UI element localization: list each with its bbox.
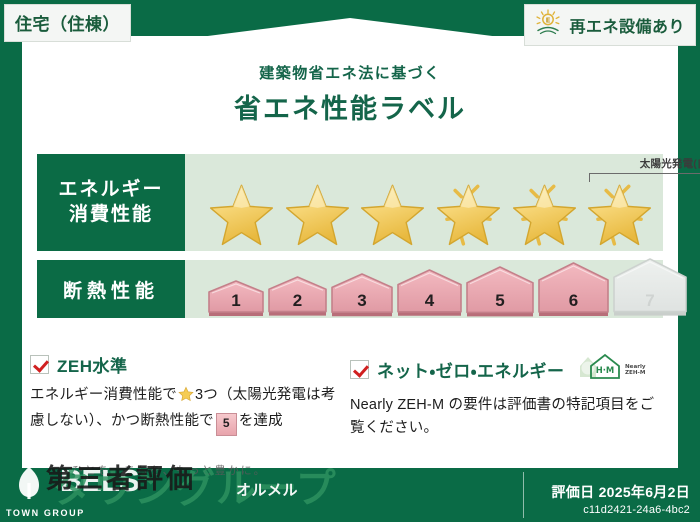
insulation-level-number: 2 bbox=[267, 291, 328, 311]
row-insulation-body: 1 2 bbox=[185, 260, 663, 318]
footer-divider bbox=[523, 472, 524, 518]
watermark-overlay-dark: 第三者評価 bbox=[46, 457, 196, 496]
note-zeh-text-3: を達成 bbox=[239, 413, 283, 429]
badge-building-type: 住宅（住棟） bbox=[4, 4, 131, 42]
insulation-level-number: 7 bbox=[612, 291, 688, 311]
insulation-level-6: 6 bbox=[537, 262, 610, 318]
badge-renewable-energy: E 再エネ設備あり bbox=[524, 4, 696, 46]
energy-label-card: 住宅（住棟） E 再エネ設備あり 建 bbox=[0, 0, 700, 522]
footer-evaluation-info: 評価日 2025年6月2日 c11d2421-24a6-4bc2 bbox=[551, 482, 690, 516]
note-zeh-title: ZEH水準 bbox=[57, 352, 128, 377]
row-insulation-label-text: 断熱性能 bbox=[63, 276, 159, 303]
insulation-level-badge: 5 bbox=[216, 413, 237, 435]
insulation-level-4: 4 bbox=[396, 269, 463, 318]
row-energy-label-line2: 消費性能 bbox=[69, 203, 153, 227]
energy-star-1 bbox=[203, 173, 277, 249]
note-zeh-text-1: エネルギー消費性能で bbox=[30, 387, 177, 403]
energy-star-2 bbox=[279, 173, 353, 249]
note-zeh-header: ZEH水準 bbox=[30, 352, 336, 377]
row-energy-label: エネルギー 消費性能 bbox=[37, 154, 185, 251]
insulation-level-3: 3 bbox=[330, 273, 394, 318]
note-zeh-body: エネルギー消費性能で3つ（太陽光発電は考慮しない）、かつ断熱性能で5を達成 bbox=[30, 384, 336, 436]
svg-text:ZEH-M: ZEH-M bbox=[625, 370, 646, 376]
page-title: 省エネ性能ラベル bbox=[0, 87, 700, 126]
checkbox-checked-icon bbox=[350, 360, 369, 379]
note-net-zero-energy: ネット・ゼロ・エネルギー H·M Nearly ZEH-M Nearly ZEH… bbox=[350, 352, 670, 441]
nearly-zeh-m-logo: H·M Nearly ZEH-M bbox=[577, 352, 653, 387]
evaluation-id: c11d2421-24a6-4bc2 bbox=[551, 504, 690, 516]
insulation-level-scale: 1 2 bbox=[207, 260, 688, 318]
insulation-level-2: 2 bbox=[267, 276, 328, 318]
row-energy-performance: エネルギー 消費性能 太陽光発電(自家消費)分 bbox=[37, 154, 663, 251]
note-zeh-standard: ZEH水準 エネルギー消費性能で3つ（太陽光発電は考慮しない）、かつ断熱性能で5… bbox=[30, 352, 350, 441]
note-nze-body: Nearly ZEH-M の要件は評価書の特記項目をご覧ください。 bbox=[350, 394, 656, 441]
badge-building-type-label: 住宅（住棟） bbox=[15, 15, 120, 34]
title-block: 建築物省エネ法に基づく 省エネ性能ラベル bbox=[0, 62, 700, 126]
watermark-ormel: オルメル bbox=[236, 479, 298, 500]
insulation-level-number: 4 bbox=[396, 291, 463, 311]
performance-section: エネルギー 消費性能 太陽光発電(自家消費)分 bbox=[37, 154, 663, 327]
energy-star-5 bbox=[506, 173, 580, 249]
sun-renewable-icon: E bbox=[533, 9, 563, 40]
row-insulation-performance: 断熱性能 1 bbox=[37, 260, 663, 318]
star-icon bbox=[178, 386, 194, 410]
svg-text:H·M: H·M bbox=[595, 365, 614, 375]
energy-star-6 bbox=[581, 173, 655, 249]
evaluation-date: 評価日 2025年6月2日 bbox=[551, 482, 690, 502]
notes-section: ZEH水準 エネルギー消費性能で3つ（太陽光発電は考慮しない）、かつ断熱性能で5… bbox=[30, 352, 670, 441]
energy-star-4 bbox=[430, 173, 504, 249]
checkbox-checked-icon bbox=[30, 355, 49, 374]
insulation-level-number: 3 bbox=[330, 291, 394, 311]
insulation-level-1: 1 bbox=[207, 280, 265, 318]
row-energy-body: 太陽光発電(自家消費)分 bbox=[185, 154, 663, 251]
row-energy-label-line1: エネルギー bbox=[58, 178, 163, 202]
energy-star-3 bbox=[354, 173, 428, 249]
insulation-level-7: 7 bbox=[612, 258, 688, 318]
insulation-level-number: 5 bbox=[465, 291, 535, 311]
badge-renewable-energy-label: 再エネ設備あり bbox=[569, 13, 685, 37]
insulation-level-number: 1 bbox=[207, 291, 265, 311]
energy-star-rating bbox=[203, 173, 655, 249]
row-insulation-label: 断熱性能 bbox=[37, 260, 185, 318]
svg-text:E: E bbox=[546, 16, 551, 24]
note-nze-title: ネット・ゼロ・エネルギー bbox=[377, 357, 565, 382]
insulation-level-5: 5 bbox=[465, 266, 535, 318]
note-nze-header: ネット・ゼロ・エネルギー H·M Nearly ZEH-M bbox=[350, 352, 656, 387]
insulation-level-number: 6 bbox=[537, 291, 610, 311]
title-subtitle: 建築物省エネ法に基づく bbox=[0, 62, 700, 83]
solar-note-label: 太陽光発電(自家消費)分 bbox=[589, 156, 700, 171]
